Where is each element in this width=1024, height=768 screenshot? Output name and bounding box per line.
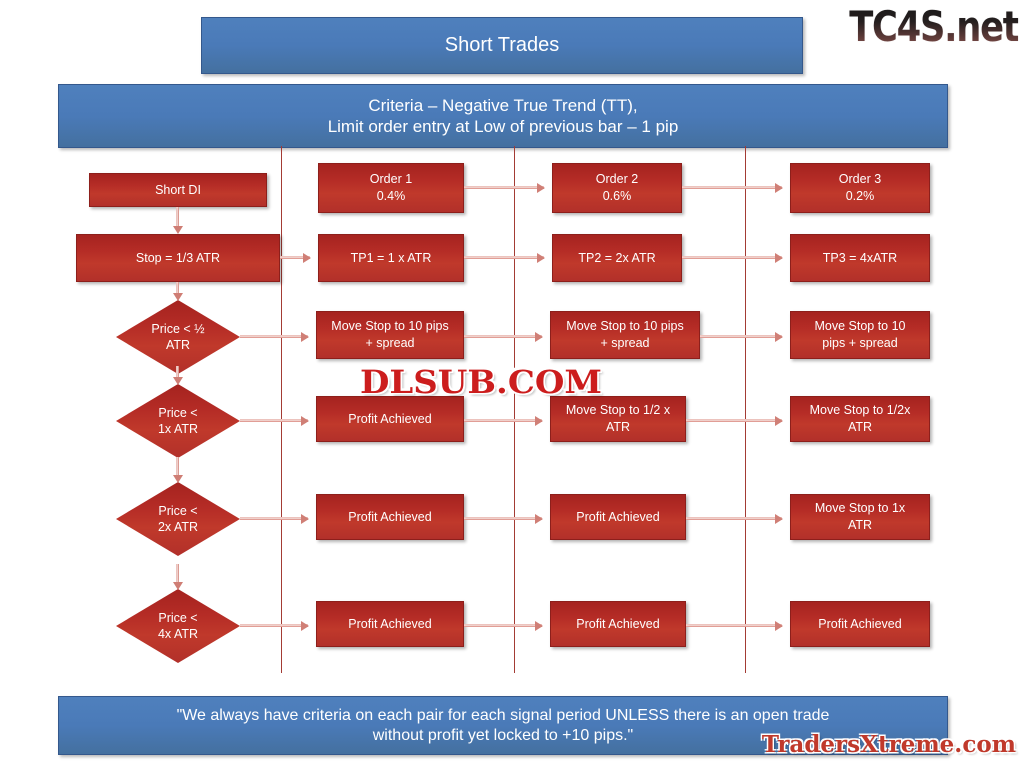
node-move-stop-1x-c4-line2: ATR [815, 517, 905, 534]
footer-quote-line-2: without profit yet locked to +10 pips." [177, 726, 830, 746]
column-divider-2 [514, 146, 515, 673]
node-order-2-value: 0.6% [596, 188, 638, 205]
arrow-c3-to-c4-row5 [686, 517, 782, 520]
node-short-di[interactable]: Short DI [89, 173, 267, 207]
node-order-2-label: Order 2 [596, 171, 638, 188]
arrow-decision-half-to-c2 [240, 335, 308, 338]
criteria-line-1: Criteria – Negative True Trend (TT), [328, 95, 679, 116]
node-move-stop-half-c3-line2: ATR [566, 419, 670, 436]
node-move-stop-1x-c4-line1: Move Stop to 1x [815, 500, 905, 517]
arrow-c2-to-c3-row4 [464, 419, 542, 422]
arrow-c3-to-c4-row3 [700, 335, 782, 338]
node-stop-atr[interactable]: Stop = 1/3 ATR [76, 234, 280, 282]
criteria-line-2: Limit order entry at Low of previous bar… [328, 116, 679, 137]
node-order-3[interactable]: Order 3 0.2% [790, 163, 930, 213]
decision-price-4x-atr[interactable]: Price < 4x ATR [116, 589, 240, 663]
decision-price-2x-atr-line2: 2x ATR [158, 519, 198, 535]
node-profit-achieved-r6-c3-label: Profit Achieved [576, 616, 659, 633]
page-title-text: Short Trades [445, 33, 560, 58]
arrow-decision-2x-to-decision-4x [176, 564, 179, 582]
decision-price-1x-atr-line1: Price < [158, 405, 198, 421]
arrow-decision-4x-to-c2 [240, 624, 308, 627]
dlsub-watermark: DLSUB.COM [360, 363, 602, 401]
tradersxtreme-watermark: TradersXtreme.com [762, 731, 1016, 758]
arrow-decision-1x-to-c2 [240, 419, 308, 422]
node-order-3-value: 0.2% [839, 188, 881, 205]
node-tp1[interactable]: TP1 = 1 x ATR [318, 234, 464, 282]
node-order-1-label: Order 1 [370, 171, 412, 188]
node-profit-achieved-r6-c2-label: Profit Achieved [348, 616, 431, 633]
arrow-c3-to-c4-row4 [686, 419, 782, 422]
arrow-order2-to-order3 [682, 186, 782, 189]
decision-price-1x-atr-line2: 1x ATR [158, 421, 198, 437]
node-profit-achieved-r5-c3[interactable]: Profit Achieved [550, 494, 686, 540]
node-move-stop-half-c4[interactable]: Move Stop to 1/2x ATR [790, 396, 930, 442]
node-tp1-label: TP1 = 1 x ATR [351, 250, 432, 267]
node-profit-achieved-r5-c2-label: Profit Achieved [348, 509, 431, 526]
decision-price-half-atr-line2: ATR [151, 337, 204, 353]
node-move-stop-half-c4-line2: ATR [810, 419, 911, 436]
criteria-banner: Criteria – Negative True Trend (TT), Lim… [58, 84, 948, 148]
arrow-decision-2x-to-c2 [240, 517, 308, 520]
arrow-shortdi-to-stop [176, 207, 179, 226]
decision-price-half-atr-line1: Price < ½ [151, 321, 204, 337]
node-move-stop-half-c3[interactable]: Move Stop to 1/2 x ATR [550, 396, 686, 442]
node-move-stop-10pips-c2-line2: + spread [331, 335, 448, 352]
decision-price-2x-atr[interactable]: Price < 2x ATR [116, 482, 240, 556]
arrow-stop-to-decision-half [176, 282, 179, 293]
node-order-2[interactable]: Order 2 0.6% [552, 163, 682, 213]
node-tp2[interactable]: TP2 = 2x ATR [552, 234, 682, 282]
column-divider-1 [281, 146, 282, 673]
node-order-3-label: Order 3 [839, 171, 881, 188]
arrow-c2-to-c3-row3 [464, 335, 542, 338]
decision-price-1x-atr[interactable]: Price < 1x ATR [116, 384, 240, 458]
node-move-stop-10pips-c3[interactable]: Move Stop to 10 pips + spread [550, 311, 700, 359]
node-move-stop-10pips-c2[interactable]: Move Stop to 10 pips + spread [316, 311, 464, 359]
node-tp3[interactable]: TP3 = 4xATR [790, 234, 930, 282]
node-move-stop-10pips-c4[interactable]: Move Stop to 10 pips + spread [790, 311, 930, 359]
node-move-stop-half-c3-line1: Move Stop to 1/2 x [566, 402, 670, 419]
decision-price-2x-atr-line1: Price < [158, 503, 198, 519]
arrow-c2-to-c3-row6 [464, 624, 542, 627]
node-move-stop-10pips-c4-line2: pips + spread [814, 335, 905, 352]
node-move-stop-1x-c4[interactable]: Move Stop to 1x ATR [790, 494, 930, 540]
node-move-stop-10pips-c3-line1: Move Stop to 10 pips [566, 318, 683, 335]
node-tp3-label: TP3 = 4xATR [823, 250, 897, 267]
column-divider-3 [745, 146, 746, 673]
node-order-1[interactable]: Order 1 0.4% [318, 163, 464, 213]
node-profit-achieved-r6-c2[interactable]: Profit Achieved [316, 601, 464, 647]
arrow-order1-to-order2 [464, 186, 544, 189]
node-move-stop-half-c4-line1: Move Stop to 1/2x [810, 402, 911, 419]
node-stop-atr-label: Stop = 1/3 ATR [136, 250, 220, 267]
arrow-c2-to-c3-row5 [464, 517, 542, 520]
footer-quote-line-1: "We always have criteria on each pair fo… [177, 706, 830, 726]
node-move-stop-10pips-c2-line1: Move Stop to 10 pips [331, 318, 448, 335]
node-profit-achieved-r4-c2-label: Profit Achieved [348, 411, 431, 428]
node-profit-achieved-r6-c4-label: Profit Achieved [818, 616, 901, 633]
arrow-c3-to-c4-row6 [686, 624, 782, 627]
arrow-stop-to-tp1 [280, 256, 310, 259]
slide-canvas: TC4S.net Short Trades Criteria – Negativ… [0, 0, 1024, 768]
decision-price-half-atr[interactable]: Price < ½ ATR [116, 300, 240, 374]
node-profit-achieved-r5-c3-label: Profit Achieved [576, 509, 659, 526]
node-move-stop-10pips-c4-line1: Move Stop to 10 [814, 318, 905, 335]
decision-price-4x-atr-line1: Price < [158, 610, 198, 626]
node-profit-achieved-r6-c3[interactable]: Profit Achieved [550, 601, 686, 647]
arrow-tp2-to-tp3 [682, 256, 782, 259]
node-short-di-label: Short DI [155, 182, 201, 199]
node-profit-achieved-r4-c2[interactable]: Profit Achieved [316, 396, 464, 442]
arrow-decision-1x-to-decision-2x [176, 457, 179, 475]
node-move-stop-10pips-c3-line2: + spread [566, 335, 683, 352]
page-title: Short Trades [201, 17, 803, 74]
node-order-1-value: 0.4% [370, 188, 412, 205]
node-tp2-label: TP2 = 2x ATR [578, 250, 655, 267]
node-profit-achieved-r6-c4[interactable]: Profit Achieved [790, 601, 930, 647]
arrow-tp1-to-tp2 [464, 256, 544, 259]
tc4s-logo: TC4S.net [849, 2, 1018, 51]
node-profit-achieved-r5-c2[interactable]: Profit Achieved [316, 494, 464, 540]
decision-price-4x-atr-line2: 4x ATR [158, 626, 198, 642]
